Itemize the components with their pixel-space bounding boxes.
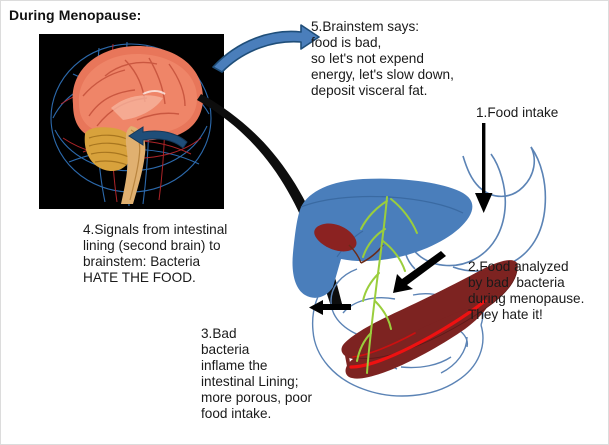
caption-step-3: 3.Bad bacteria inflame the intestinal Li… <box>201 326 312 422</box>
caption-step-5: 5.Brainstem says: food is bad, so let's … <box>311 19 454 99</box>
caption-step-4: 4.Signals from intestinal lining (second… <box>83 222 227 286</box>
slide-canvas: During Menopause: 5.Brainstem says: food… <box>0 0 609 445</box>
caption-step-2: 2.Food analyzed by bad bacteria during m… <box>468 259 584 323</box>
page-title: During Menopause: <box>9 7 141 24</box>
bacteria-pointer-arrow <box>393 251 446 293</box>
food-intake-down-arrow <box>475 123 493 213</box>
brain-to-brainstem-says-arrow <box>213 25 319 72</box>
caption-step-1: 1.Food intake <box>476 105 558 121</box>
